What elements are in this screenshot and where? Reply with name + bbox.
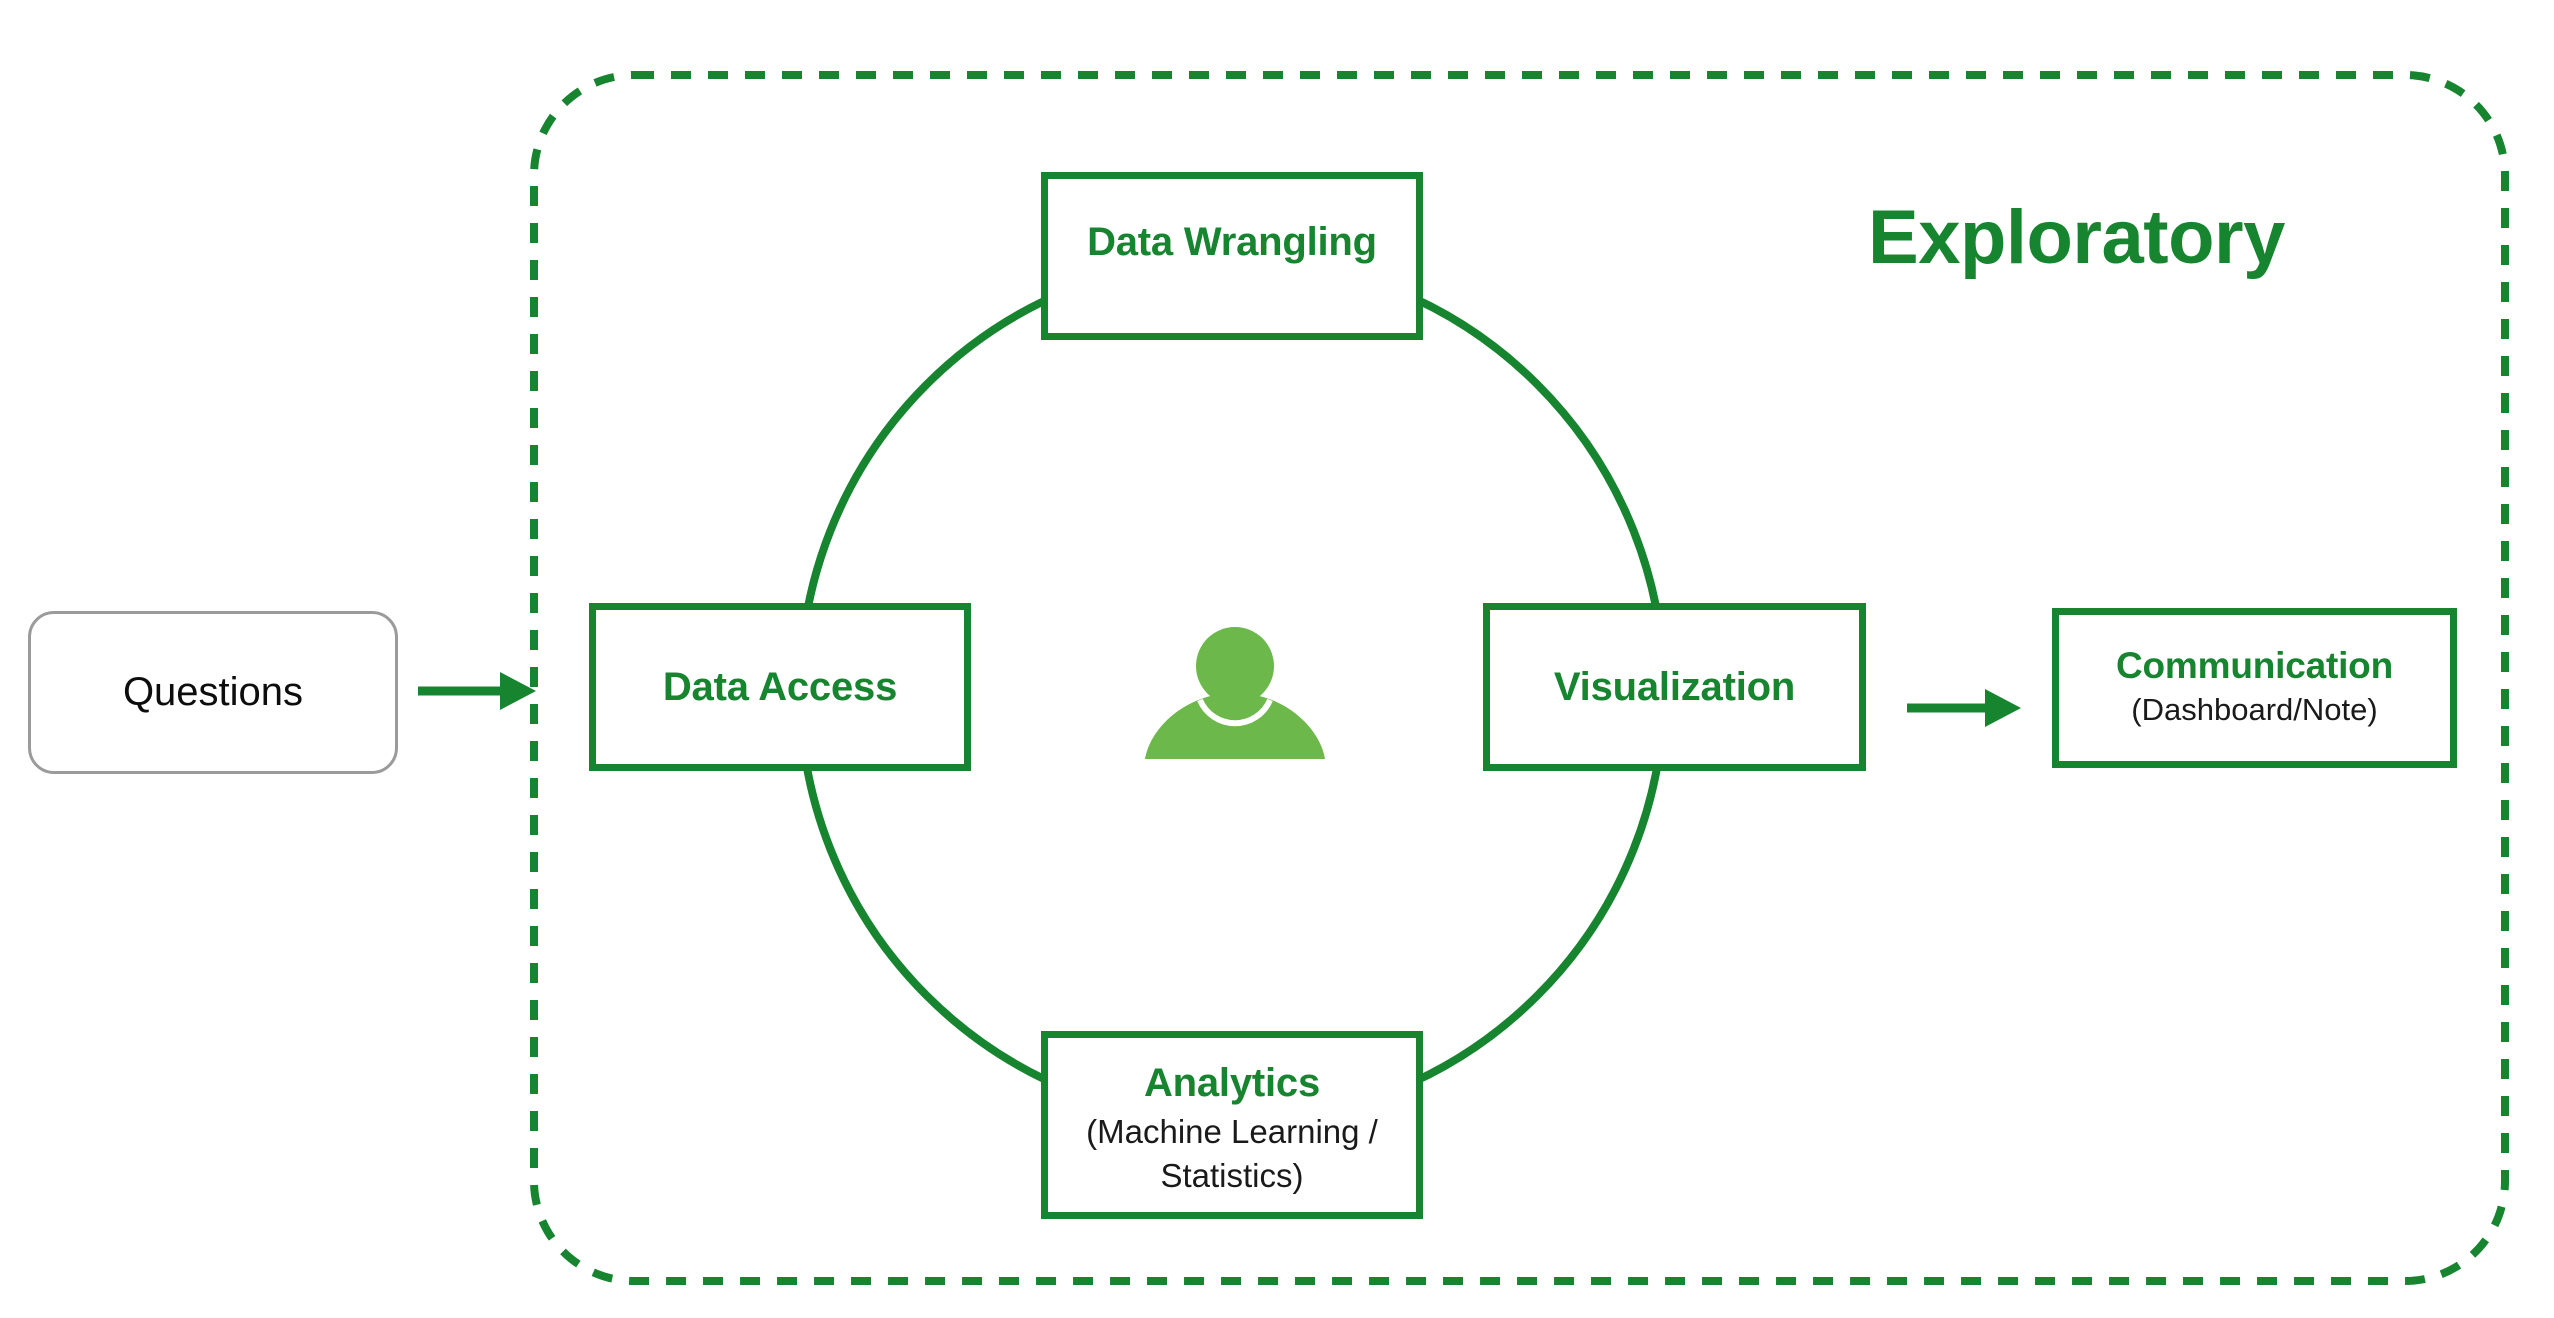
node-data-wrangling[interactable]: Data Wrangling <box>1041 172 1423 340</box>
node-visualization-title: Visualization <box>1554 664 1795 710</box>
node-data-access-title: Data Access <box>663 664 897 710</box>
node-questions[interactable]: Questions <box>28 611 398 774</box>
node-communication[interactable]: Communication (Dashboard/Note) <box>2052 608 2457 768</box>
node-communication-subtitle: (Dashboard/Note) <box>2131 690 2377 731</box>
node-data-access[interactable]: Data Access <box>589 603 971 771</box>
node-data-wrangling-title: Data Wrangling <box>1087 219 1377 265</box>
node-questions-label: Questions <box>123 670 303 715</box>
arrow-questions-to-cycle <box>418 672 536 710</box>
node-analytics-subtitle: (Machine Learning / Statistics) <box>1063 1110 1402 1197</box>
diagram-canvas: Exploratory Questions Data Wrangling Dat… <box>0 0 2554 1318</box>
arrow-cycle-to-communication <box>1907 689 2021 727</box>
node-visualization[interactable]: Visualization <box>1483 603 1866 771</box>
exploratory-title: Exploratory <box>1868 194 2285 281</box>
node-analytics-title: Analytics <box>1144 1060 1320 1106</box>
person-icon <box>1140 620 1330 770</box>
node-analytics[interactable]: Analytics (Machine Learning / Statistics… <box>1041 1031 1423 1219</box>
node-communication-title: Communication <box>2116 645 2393 688</box>
